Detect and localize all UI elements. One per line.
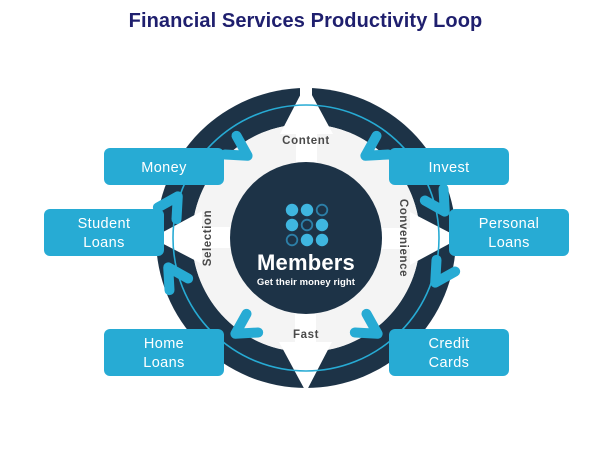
label-box-credit-cards-line-2: Cards [429,355,470,371]
ring-label-selection: Selection [202,210,214,267]
label-box-personal-loans-line-2: Loans [488,235,530,251]
logo-dot-0-1 [301,204,313,216]
center-title: Members [257,250,355,275]
logo-dot-2-1 [301,234,313,246]
label-box-home-loans-line-2: Loans [143,355,185,371]
ring-label-convenience: Convenience [397,199,409,277]
label-box-student-loans[interactable]: Student Loans [44,209,164,256]
center-subtitle: Get their money right [257,277,356,288]
ring-label-content: Content [282,135,330,147]
label-box-invest-line-1: Invest [428,160,469,176]
label-box-money[interactable]: Money [104,148,224,185]
logo-dot-2-2 [316,234,328,246]
ring-label-fast: Fast [293,329,319,341]
label-box-credit-cards[interactable]: Credit Cards [389,329,509,376]
page-title: Financial Services Productivity Loop [0,10,611,33]
logo-dot-1-2 [316,219,328,231]
label-box-home-loans-line-1: Home [144,336,184,352]
label-box-invest[interactable]: Invest [389,148,509,185]
label-box-student-loans-line-2: Loans [83,235,125,251]
label-box-home-loans[interactable]: Home Loans [104,329,224,376]
label-box-student-loans-line-1: Student [78,216,131,232]
logo-dot-1-0 [286,219,298,231]
label-box-personal-loans-line-1: Personal [479,216,539,232]
label-box-credit-cards-line-1: Credit [428,336,469,352]
label-box-money-line-1: Money [141,160,187,176]
productivity-loop-diagram: Members Get their money right Content Co… [0,48,611,428]
logo-dot-0-0 [286,204,298,216]
label-box-personal-loans[interactable]: Personal Loans [449,209,569,256]
